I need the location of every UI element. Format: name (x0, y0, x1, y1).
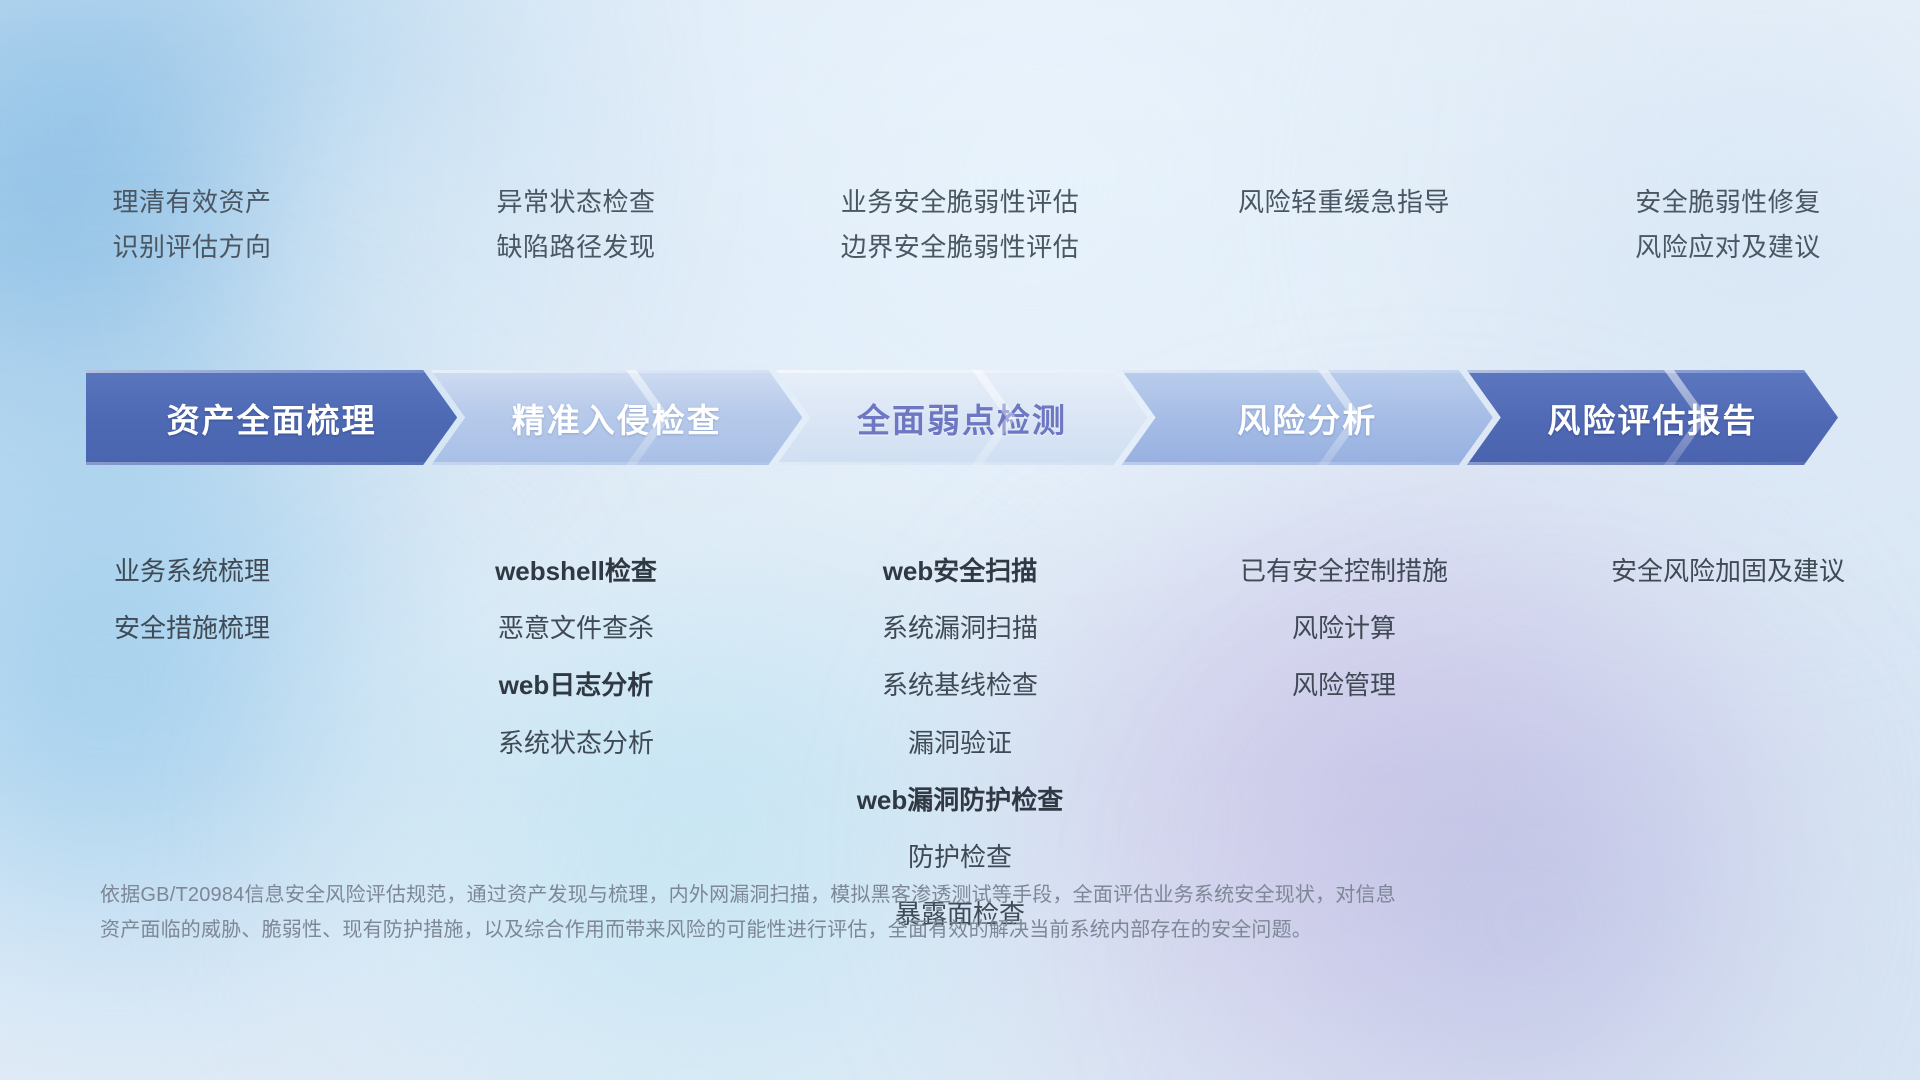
list-item: 系统状态分析 (498, 728, 654, 759)
list-item: web日志分析 (499, 670, 654, 701)
list-item: 业务系统梳理 (114, 556, 270, 587)
list-item: 防护检查 (908, 842, 1012, 873)
list-item: web漏洞防护检查 (857, 785, 1064, 816)
stage-notes-weakness-detection: 业务安全脆弱性评估 边界安全脆弱性评估 (768, 186, 1152, 263)
footnote-line: 依据GB/T20984信息安全风险评估规范，通过资产发现与梳理，内外网漏洞扫描，… (100, 878, 1620, 913)
stage-note: 识别评估方向 (112, 231, 271, 264)
chevron-stage-risk-analysis[interactable]: 风险分析 (1122, 370, 1493, 465)
chevron-label: 资产全面梳理 (167, 394, 377, 442)
list-item: 系统基线检查 (882, 670, 1038, 701)
stage-note: 业务安全脆弱性评估 (841, 186, 1080, 219)
list-item: 漏洞验证 (908, 728, 1012, 759)
list-item: 风险管理 (1292, 670, 1396, 701)
chevron-label: 风险评估报告 (1547, 394, 1757, 442)
stage-note: 风险轻重缓急指导 (1238, 186, 1450, 219)
list-item: webshell检查 (495, 556, 657, 587)
stage-notes-intrusion-check: 异常状态检查 缺陷路径发现 (384, 186, 768, 263)
list-item: 安全风险加固及建议 (1611, 556, 1845, 587)
stage-items-asset-inventory: 业务系统梳理 安全措施梳理 (0, 556, 384, 644)
stage-items-risk-report: 安全风险加固及建议 (1536, 556, 1920, 587)
chevron-stage-intrusion-check[interactable]: 精准入侵检查 (431, 370, 802, 465)
list-item: 恶意文件查杀 (498, 613, 654, 644)
footnote-line: 资产面临的威胁、脆弱性、现有防护措施，以及综合作用而带来风险的可能性进行评估，全… (100, 913, 1620, 948)
stage-note: 理清有效资产 (112, 186, 271, 219)
list-item: 风险计算 (1292, 613, 1396, 644)
list-item: 系统漏洞扫描 (882, 613, 1038, 644)
chevron-stage-weakness-detection[interactable]: 全面弱点检测 (776, 370, 1147, 465)
stage-note: 异常状态检查 (496, 186, 655, 219)
stage-items-weakness-detection: web安全扫描 系统漏洞扫描 系统基线检查 漏洞验证 web漏洞防护检查 防护检… (768, 556, 1152, 930)
process-chevron-banner: 资产全面梳理 精准入侵检查 全面弱点检测 风险分析 风险评估报告 (86, 370, 1838, 465)
stage-note: 安全脆弱性修复 (1635, 186, 1821, 219)
stage-items-intrusion-check: webshell检查 恶意文件查杀 web日志分析 系统状态分析 (384, 556, 768, 759)
stage-notes-risk-analysis: 风险轻重缓急指导 (1152, 186, 1536, 263)
diagram-root: 理清有效资产 识别评估方向 异常状态检查 缺陷路径发现 业务安全脆弱性评估 边界… (0, 0, 1920, 1080)
chevron-label: 风险分析 (1237, 394, 1377, 442)
list-item: web安全扫描 (883, 556, 1038, 587)
chevron-stage-risk-report[interactable]: 风险评估报告 (1467, 370, 1838, 465)
stage-note: 缺陷路径发现 (496, 231, 655, 264)
stage-notes-risk-report: 安全脆弱性修复 风险应对及建议 (1536, 186, 1920, 263)
stage-note: 边界安全脆弱性评估 (841, 231, 1080, 264)
stage-notes-asset-inventory: 理清有效资产 识别评估方向 (0, 186, 384, 263)
chevron-label: 精准入侵检查 (512, 394, 722, 442)
list-item: 已有安全控制措施 (1240, 556, 1448, 587)
stage-note: 风险应对及建议 (1635, 231, 1821, 264)
chevron-label: 全面弱点检测 (857, 394, 1067, 442)
description-footnote: 依据GB/T20984信息安全风险评估规范，通过资产发现与梳理，内外网漏洞扫描，… (100, 878, 1620, 948)
stage-notes-row: 理清有效资产 识别评估方向 异常状态检查 缺陷路径发现 业务安全脆弱性评估 边界… (0, 186, 1920, 263)
stage-items-row: 业务系统梳理 安全措施梳理 webshell检查 恶意文件查杀 web日志分析 … (0, 556, 1920, 930)
chevron-stage-asset-inventory[interactable]: 资产全面梳理 (86, 370, 457, 465)
stage-items-risk-analysis: 已有安全控制措施 风险计算 风险管理 (1152, 556, 1536, 702)
list-item: 安全措施梳理 (114, 613, 270, 644)
